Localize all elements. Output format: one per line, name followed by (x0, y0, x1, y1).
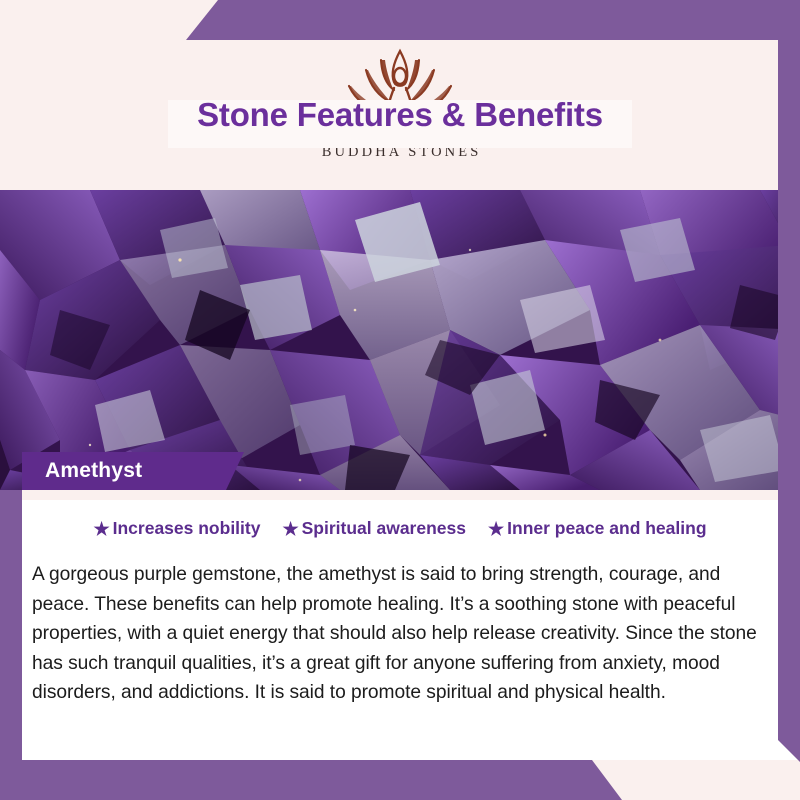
page-title: Stone Features & Benefits (0, 96, 800, 134)
benefit-item-3: ★ Inner peace and healing (488, 518, 707, 539)
benefit-label: Increases nobility (113, 518, 261, 539)
benefits-list: ★ Increases nobility ★ Spiritual awarene… (22, 518, 778, 539)
benefit-label: Spiritual awareness (302, 518, 466, 539)
benefit-item-1: ★ Increases nobility (93, 518, 260, 539)
left-accent-strip (0, 490, 22, 762)
right-accent-strip (778, 40, 800, 762)
top-accent-band (0, 0, 800, 40)
amethyst-crystal-cluster-image (0, 190, 800, 490)
stone-description: A gorgeous purple gemstone, the amethyst… (32, 560, 774, 708)
star-icon: ★ (488, 520, 504, 538)
star-icon: ★ (93, 520, 109, 538)
bottom-accent-band (0, 760, 800, 800)
benefit-item-2: ★ Spiritual awareness (282, 518, 466, 539)
stone-features-infographic: BUDDHA STONES Stone Features & Benefits (0, 0, 800, 800)
benefit-label: Inner peace and healing (507, 518, 706, 539)
panel-top-divider (0, 490, 800, 500)
star-icon: ★ (282, 520, 298, 538)
stone-name: Amethyst (45, 459, 142, 483)
